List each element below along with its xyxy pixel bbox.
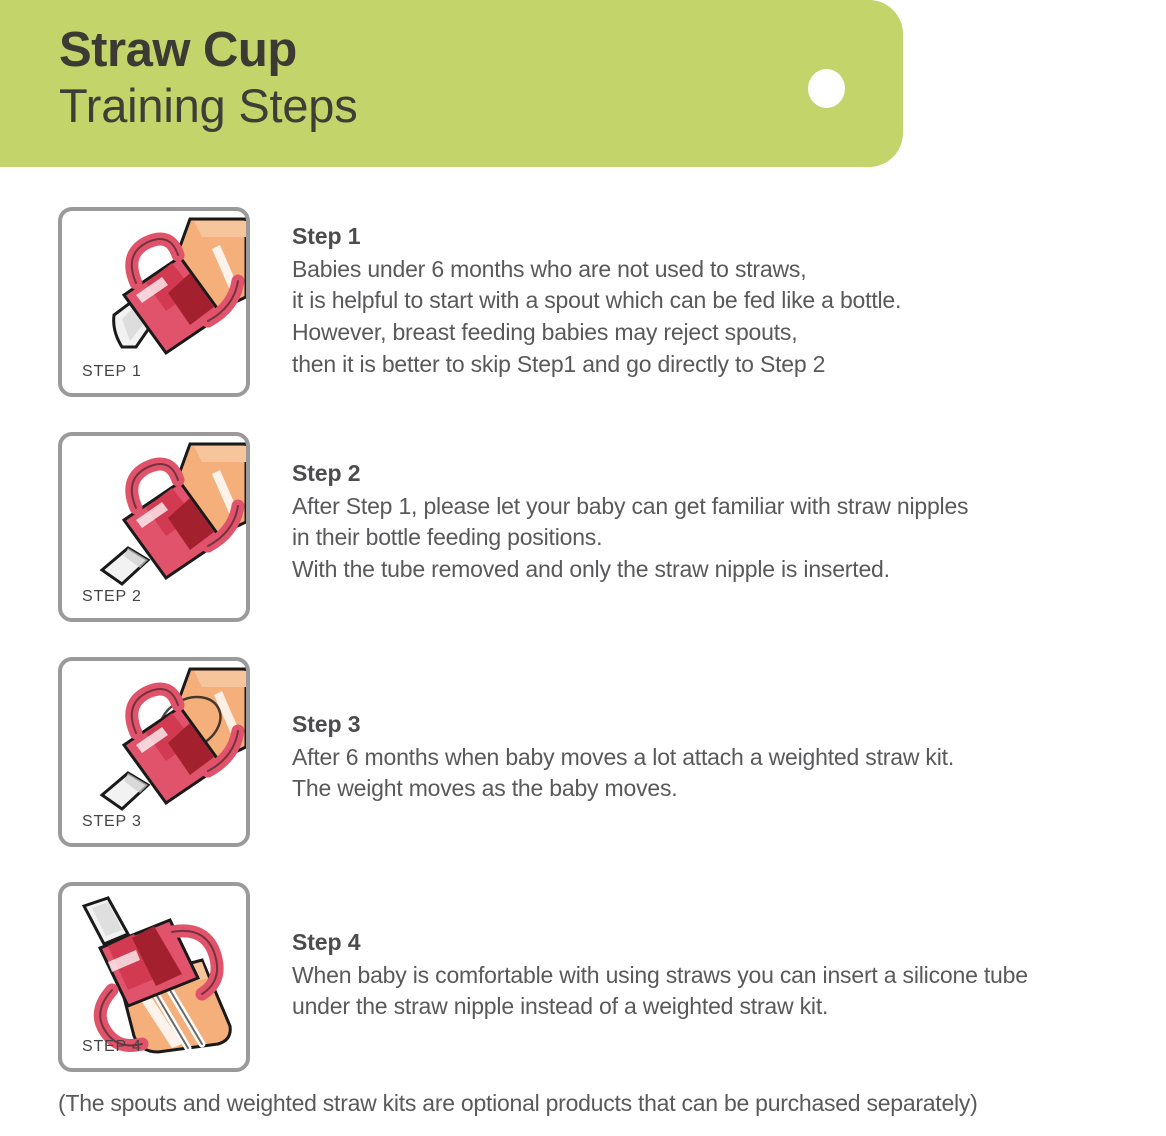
step-illustration-box: STEP 4 xyxy=(58,882,250,1072)
punch-hole-icon xyxy=(808,69,845,108)
step-text-block: Step 3 After 6 months when baby moves a … xyxy=(292,710,1166,805)
step-box-label: STEP 1 xyxy=(82,363,142,381)
title-sub: Training Steps xyxy=(59,80,358,132)
header-tag-banner: Straw Cup Training Steps xyxy=(0,0,903,167)
step-illustration-box: STEP 2 xyxy=(58,432,250,622)
step-line: Babies under 6 months who are not used t… xyxy=(292,254,1166,286)
step-box-label: STEP 3 xyxy=(82,813,142,831)
step-heading: Step 1 xyxy=(292,222,1166,251)
step-line: With the tube removed and only the straw… xyxy=(292,554,1166,586)
footer-note: (The spouts and weighted straw kits are … xyxy=(58,1090,978,1117)
step-heading: Step 3 xyxy=(292,710,1166,739)
step-line: then it is better to skip Step1 and go d… xyxy=(292,349,1166,381)
step-box-label: STEP 4 xyxy=(82,1038,142,1056)
step-line: After 6 months when baby moves a lot att… xyxy=(292,742,1166,774)
step-line: After Step 1, please let your baby can g… xyxy=(292,491,1166,523)
step-line: under the straw nipple instead of a weig… xyxy=(292,991,1166,1023)
step-text-block: Step 1 Babies under 6 months who are not… xyxy=(292,222,1166,381)
step-illustration-box: STEP 1 xyxy=(58,207,250,397)
step-line: However, breast feeding babies may rejec… xyxy=(292,317,1166,349)
step-text-block: Step 4 When baby is comfortable with usi… xyxy=(292,928,1166,1023)
step-line: it is helpful to start with a spout whic… xyxy=(292,285,1166,317)
step-line: When baby is comfortable with using stra… xyxy=(292,960,1166,992)
step-heading: Step 2 xyxy=(292,459,1166,488)
title-main: Straw Cup xyxy=(59,24,358,77)
step-illustration-box: STEP 3 xyxy=(58,657,250,847)
step-heading: Step 4 xyxy=(292,928,1166,957)
step-line: in their bottle feeding positions. xyxy=(292,522,1166,554)
page-title: Straw Cup Training Steps xyxy=(59,24,358,132)
step-box-label: STEP 2 xyxy=(82,588,142,606)
step-line: The weight moves as the baby moves. xyxy=(292,773,1166,805)
step-text-block: Step 2 After Step 1, please let your bab… xyxy=(292,459,1166,586)
straw-cup-training-steps-page: Straw Cup Training Steps xyxy=(0,0,1166,1136)
